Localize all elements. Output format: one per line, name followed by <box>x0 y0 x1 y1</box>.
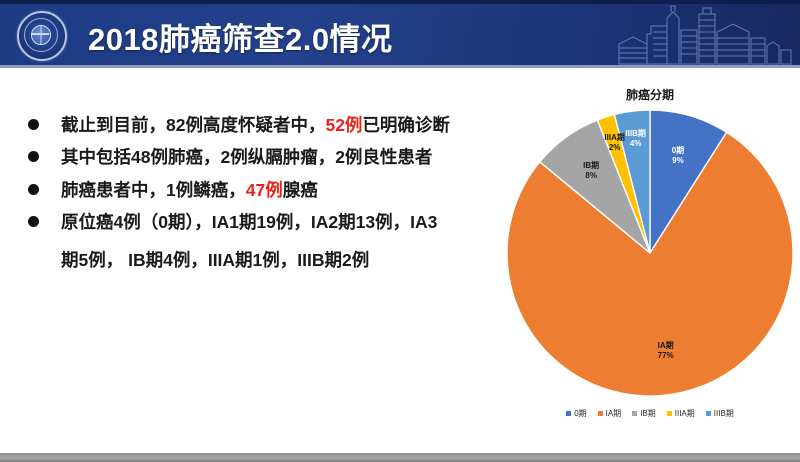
legend-item[interactable]: IA期 <box>598 408 622 419</box>
bullet-item: 原位癌4例（0期），IA1期19例，IA2期13例，IA3 <box>28 209 508 235</box>
legend-item[interactable]: IB期 <box>632 408 656 419</box>
text-segment: 期5例， IB期4例，IIIA期1例，IIIB期2例 <box>61 250 369 270</box>
legend-label: 0期 <box>574 408 586 419</box>
legend-swatch-icon <box>667 411 672 416</box>
legend-swatch-icon <box>632 411 637 416</box>
bullet-text: 截止到目前，82例高度怀疑者中，52例已明确诊断 <box>61 112 450 138</box>
highlighted-count: 52例 <box>325 115 362 135</box>
pie-svg <box>505 108 795 398</box>
legend-swatch-icon <box>706 411 711 416</box>
city-skyline-icon <box>611 4 796 66</box>
chart-title: 肺癌分期 <box>500 86 800 103</box>
bullet-item: 其中包括48例肺癌，2例纵膈肿瘤，2例良性患者 <box>28 144 508 170</box>
bullet-item: 期5例， IB期4例，IIIA期1例，IIIB期2例 <box>28 247 508 273</box>
legend-item[interactable]: IIIB期 <box>706 408 734 419</box>
bottom-strip <box>0 453 800 462</box>
text-segment: 腺癌 <box>283 180 318 200</box>
text-segment: 肺癌患者中，1例鳞癌， <box>61 180 246 200</box>
chart-legend: 0期IA期IB期IIIA期IIIB期 <box>500 408 800 419</box>
legend-item[interactable]: 0期 <box>566 408 586 419</box>
text-segment: 已明确诊断 <box>362 115 450 135</box>
bullet-text: 原位癌4例（0期），IA1期19例，IA2期13例，IA3 <box>61 209 437 235</box>
bullet-marker-icon <box>28 184 39 195</box>
institution-emblem-icon <box>17 11 67 61</box>
globe-icon <box>31 25 51 45</box>
slide-header: 2018肺癌筛查2.0情况 <box>0 0 800 68</box>
highlighted-count: 47例 <box>246 180 283 200</box>
bullet-item: 肺癌患者中，1例鳞癌，47例腺癌 <box>28 177 508 203</box>
legend-swatch-icon <box>566 411 571 416</box>
bullet-item: 截止到目前，82例高度怀疑者中，52例已明确诊断 <box>28 112 508 138</box>
bullet-marker-icon <box>28 216 39 227</box>
text-segment: 截止到目前，82例高度怀疑者中， <box>61 115 325 135</box>
pie-chart: 肺癌分期 0期9%IA期77%IB期8%IIIA期2%IIIB期4% 0期IA期… <box>500 86 800 446</box>
legend-label: IB期 <box>640 408 656 419</box>
header-bottom-rule <box>0 65 800 68</box>
bullet-text: 肺癌患者中，1例鳞癌，47例腺癌 <box>61 177 318 203</box>
text-segment: 原位癌4例（0期），IA1期19例，IA2期13例，IA3 <box>61 212 437 232</box>
legend-label: IA期 <box>606 408 622 419</box>
bullet-text: 其中包括48例肺癌，2例纵膈肿瘤，2例良性患者 <box>61 144 432 170</box>
bullet-marker-icon <box>28 151 39 162</box>
legend-swatch-icon <box>598 411 603 416</box>
page-title: 2018肺癌筛查2.0情况 <box>88 14 393 59</box>
legend-item[interactable]: IIIA期 <box>667 408 695 419</box>
text-segment: 其中包括48例肺癌，2例纵膈肿瘤，2例良性患者 <box>61 147 432 167</box>
pie-plot-area: 0期9%IA期77%IB期8%IIIA期2%IIIB期4% <box>505 108 795 398</box>
bullet-text: 期5例， IB期4例，IIIA期1例，IIIB期2例 <box>61 247 369 273</box>
legend-label: IIIA期 <box>675 408 695 419</box>
legend-label: IIIB期 <box>714 408 734 419</box>
bullet-marker-icon <box>28 119 39 130</box>
slide-canvas: 2018肺癌筛查2.0情况 <box>0 0 800 462</box>
bullet-list: 截止到目前，82例高度怀疑者中，52例已明确诊断其中包括48例肺癌，2例纵膈肿瘤… <box>28 112 508 279</box>
